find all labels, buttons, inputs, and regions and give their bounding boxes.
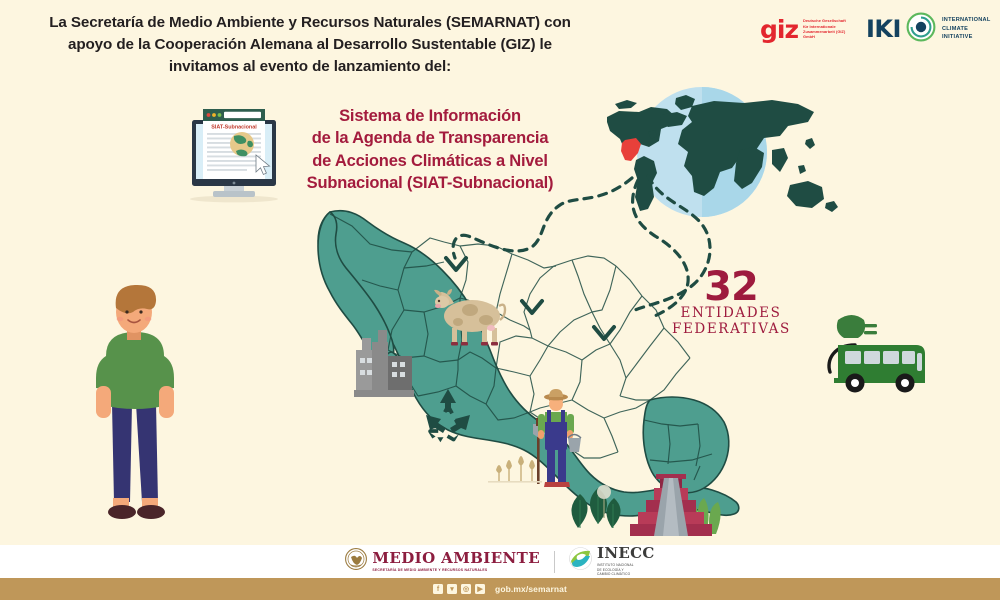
entidades-label-line-2: FEDERATIVAS	[672, 322, 790, 338]
electric-bus-illustration	[829, 315, 925, 393]
facebook-icon[interactable]: f	[433, 584, 443, 594]
entidades-number: 32	[672, 268, 790, 306]
inecc-sub-line-3: CAMBIO CLIMÁTICO	[597, 572, 655, 577]
twitter-icon[interactable]: ▾	[447, 584, 457, 594]
inecc-logo: INECC INSTITUTO NACIONAL DE ECOLOGÍA Y C…	[569, 546, 655, 577]
poster-canvas: La Secretaría de Medio Ambiente y Recurs…	[0, 0, 1000, 600]
footer-logos-row: MEDIO AMBIENTE SECRETARÍA DE MEDIO AMBIE…	[0, 545, 1000, 578]
world-globe-illustration	[607, 87, 838, 217]
inecc-text: INECC INSTITUTO NACIONAL DE ECOLOGÍA Y C…	[597, 546, 655, 577]
medio-ambiente-text: MEDIO AMBIENTE SECRETARÍA DE MEDIO AMBIE…	[372, 551, 540, 572]
entidades-stat: 32 ENTIDADES FEDERATIVAS	[672, 268, 790, 337]
inecc-subtitle: INSTITUTO NACIONAL DE ECOLOGÍA Y CAMBIO …	[597, 563, 655, 577]
charging-plug-icon	[837, 315, 877, 338]
medio-ambiente-logo: MEDIO AMBIENTE SECRETARÍA DE MEDIO AMBIE…	[345, 548, 540, 575]
medio-ambiente-subtitle: SECRETARÍA DE MEDIO AMBIENTE Y RECURSOS …	[372, 568, 540, 572]
entidades-label-line-1: ENTIDADES	[672, 306, 790, 322]
mexican-eagle-seal-icon	[345, 548, 367, 575]
standing-person-illustration	[96, 285, 174, 519]
youtube-icon[interactable]: ▶	[475, 584, 485, 594]
footer-divider	[554, 551, 555, 573]
medio-ambiente-title: MEDIO AMBIENTE	[372, 551, 540, 566]
social-url[interactable]: gob.mx/semarnat	[495, 584, 567, 594]
inecc-mark-icon	[569, 547, 592, 575]
social-media-bar: f ▾ ◎ ▶ gob.mx/semarnat	[0, 578, 1000, 600]
inecc-title: INECC	[597, 546, 655, 561]
instagram-icon[interactable]: ◎	[461, 584, 471, 594]
illustration-scene	[0, 0, 1000, 560]
